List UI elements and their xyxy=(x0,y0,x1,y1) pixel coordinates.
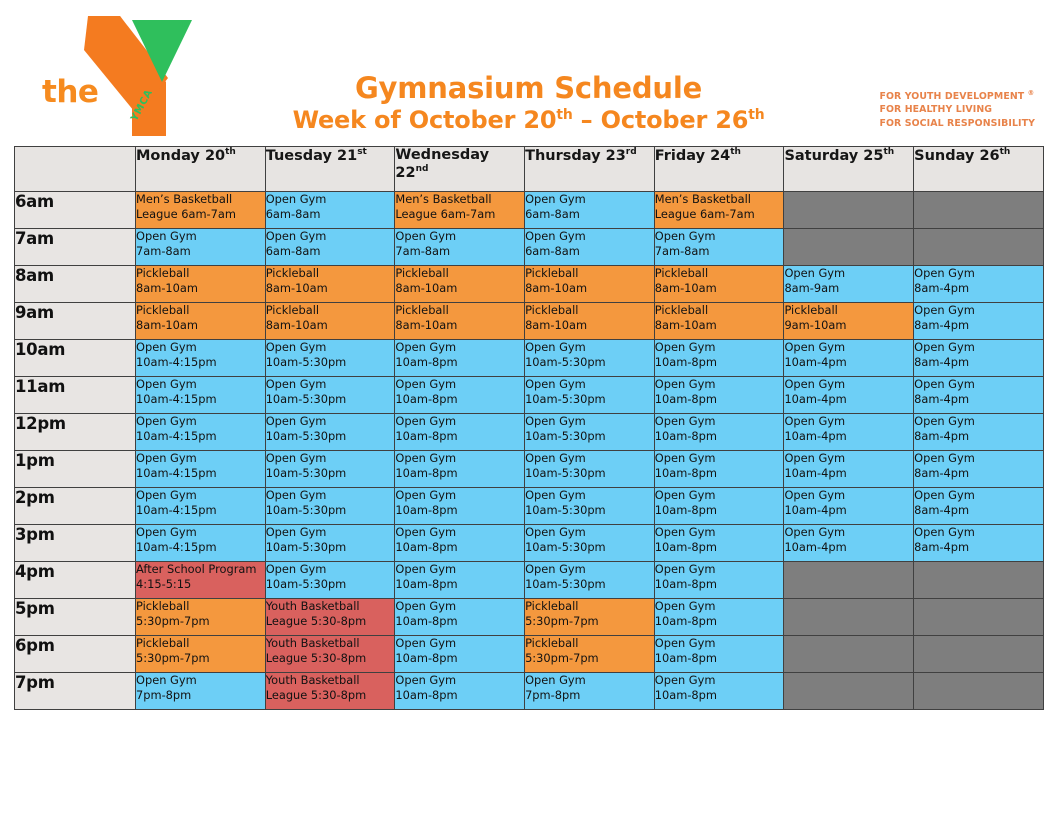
column-header-sunday: Sunday 26th xyxy=(914,147,1044,192)
schedule-cell[interactable]: After School Program4:15-5:15 xyxy=(136,562,266,599)
column-header-day: Sunday xyxy=(914,148,974,164)
cell-activity: Open Gym xyxy=(266,229,395,244)
cell-activity: After School Program xyxy=(136,562,265,577)
cell-activity: Pickleball xyxy=(784,303,913,318)
cell-time: 10am-8pm xyxy=(395,651,524,666)
tagline-registered-icon: ® xyxy=(1028,89,1035,97)
cell-time: 6am-8am xyxy=(525,244,654,259)
cell-time: 10am-5:30pm xyxy=(266,540,395,555)
column-header-date: 24 xyxy=(705,148,730,164)
cell-activity: Open Gym xyxy=(266,414,395,429)
column-header-thursday: Thursday 23rd xyxy=(525,147,655,192)
table-body: 6amMen’s BasketballLeague 6am-7amOpen Gy… xyxy=(15,192,1044,710)
cell-activity: Men’s Basketball xyxy=(395,192,524,207)
column-header-date: 20 xyxy=(200,148,225,164)
cell-activity: Open Gym xyxy=(784,266,913,281)
schedule-cell-empty[interactable] xyxy=(784,229,914,266)
schedule-cell[interactable]: Open Gym10am-8pm xyxy=(654,451,784,488)
schedule-cell[interactable]: Open Gym10am-5:30pm xyxy=(525,562,655,599)
cell-time: 10am-5:30pm xyxy=(266,577,395,592)
tagline-line-3: FOR SOCIAL RESPONSIBILITY xyxy=(879,117,1035,130)
row-time-label: 4pm xyxy=(15,562,136,599)
schedule-cell[interactable]: Open Gym10am-8pm xyxy=(654,414,784,451)
schedule-cell[interactable]: Open Gym6am-8am xyxy=(525,192,655,229)
schedule-cell[interactable]: Youth BasketballLeague 5:30-8pm xyxy=(265,673,395,710)
schedule-cell[interactable]: Open Gym10am-8pm xyxy=(395,525,525,562)
schedule-cell[interactable]: Open Gym10am-4:15pm xyxy=(136,525,266,562)
schedule-cell[interactable]: Open Gym10am-4:15pm xyxy=(136,414,266,451)
schedule-cell[interactable]: Open Gym10am-8pm xyxy=(395,340,525,377)
cell-activity: Open Gym xyxy=(136,673,265,688)
cell-time: 10am-8pm xyxy=(655,577,784,592)
cell-time: 5:30pm-7pm xyxy=(525,614,654,629)
subtitle-ordinal-end: th xyxy=(748,107,764,123)
cell-time: 10am-4pm xyxy=(784,355,913,370)
schedule-cell-empty[interactable] xyxy=(914,562,1044,599)
cell-time: 6am-8am xyxy=(266,207,395,222)
cell-time: 10am-4:15pm xyxy=(136,466,265,481)
schedule-cell[interactable]: Pickleball8am-10am xyxy=(654,266,784,303)
schedule-cell-empty[interactable] xyxy=(784,192,914,229)
column-header-ordinal: nd xyxy=(416,164,429,174)
schedule-cell[interactable]: Open Gym10am-8pm xyxy=(395,451,525,488)
table-row: 2pmOpen Gym10am-4:15pmOpen Gym10am-5:30p… xyxy=(15,488,1044,525)
schedule-cell[interactable]: Open Gym10am-5:30pm xyxy=(265,488,395,525)
cell-time: 8am-4pm xyxy=(914,503,1043,518)
schedule-cell[interactable]: Men’s BasketballLeague 6am-7am xyxy=(136,192,266,229)
cell-time: 10am-8pm xyxy=(655,540,784,555)
cell-activity: Open Gym xyxy=(655,414,784,429)
schedule-cell-empty[interactable] xyxy=(914,599,1044,636)
cell-activity: Open Gym xyxy=(266,192,395,207)
schedule-cell[interactable]: Open Gym7am-8am xyxy=(395,229,525,266)
schedule-cell[interactable]: Open Gym10am-4:15pm xyxy=(136,451,266,488)
schedule-cell[interactable]: Open Gym10am-8pm xyxy=(395,562,525,599)
row-time-label: 7pm xyxy=(15,673,136,710)
cell-time: 10am-8pm xyxy=(395,429,524,444)
cell-activity: Pickleball xyxy=(525,303,654,318)
schedule-table-wrapper: Monday 20thTuesday 21stWednesday 22ndThu… xyxy=(14,146,1043,710)
row-time-label: 9am xyxy=(15,303,136,340)
cell-activity: Pickleball xyxy=(655,303,784,318)
table-row: 6amMen’s BasketballLeague 6am-7amOpen Gy… xyxy=(15,192,1044,229)
cell-time: 9am-10am xyxy=(784,318,913,333)
schedule-cell[interactable]: Open Gym7am-8am xyxy=(654,229,784,266)
schedule-cell[interactable]: Open Gym10am-5:30pm xyxy=(265,451,395,488)
table-row: 5pmPickleball5:30pm-7pmYouth BasketballL… xyxy=(15,599,1044,636)
schedule-cell[interactable]: Pickleball8am-10am xyxy=(395,303,525,340)
cell-time: 8am-10am xyxy=(136,281,265,296)
table-row: 8amPickleball8am-10amPickleball8am-10amP… xyxy=(15,266,1044,303)
cell-activity: Open Gym xyxy=(914,340,1043,355)
cell-time: 10am-8pm xyxy=(395,688,524,703)
cell-activity: Open Gym xyxy=(784,488,913,503)
cell-activity: Pickleball xyxy=(136,266,265,281)
cell-activity: Open Gym xyxy=(136,377,265,392)
page-header: the ® YMCA Gymnasium Schedule Week of Oc… xyxy=(0,0,1057,145)
schedule-cell-empty[interactable] xyxy=(784,673,914,710)
cell-activity: Open Gym xyxy=(914,451,1043,466)
schedule-cell-empty[interactable] xyxy=(914,673,1044,710)
table-row: 9amPickleball8am-10amPickleball8am-10amP… xyxy=(15,303,1044,340)
schedule-cell[interactable]: Pickleball9am-10am xyxy=(784,303,914,340)
cell-time: League 5:30-8pm xyxy=(266,614,395,629)
cell-activity: Open Gym xyxy=(266,340,395,355)
cell-time: 10am-8pm xyxy=(395,614,524,629)
cell-time: 7pm-8pm xyxy=(136,688,265,703)
cell-time: 10am-5:30pm xyxy=(266,392,395,407)
cell-activity: Open Gym xyxy=(395,340,524,355)
row-time-label: 8am xyxy=(15,266,136,303)
row-time-label: 5pm xyxy=(15,599,136,636)
cell-activity: Open Gym xyxy=(525,340,654,355)
column-header-day: Tuesday xyxy=(266,148,332,164)
schedule-cell[interactable]: Pickleball8am-10am xyxy=(525,266,655,303)
cell-time: 10am-8pm xyxy=(395,392,524,407)
cell-activity: Open Gym xyxy=(266,488,395,503)
schedule-cell[interactable]: Open Gym10am-5:30pm xyxy=(525,488,655,525)
cell-time: 8am-4pm xyxy=(914,429,1043,444)
cell-activity: Pickleball xyxy=(395,266,524,281)
column-header-day: Thursday xyxy=(525,148,601,164)
schedule-cell[interactable]: Open Gym10am-4:15pm xyxy=(136,377,266,414)
schedule-cell[interactable]: Open Gym10am-8pm xyxy=(654,525,784,562)
schedule-cell[interactable]: Youth BasketballLeague 5:30-8pm xyxy=(265,636,395,673)
schedule-cell[interactable]: Open Gym10am-4pm xyxy=(784,340,914,377)
cell-time: 5:30pm-7pm xyxy=(525,651,654,666)
cell-activity: Open Gym xyxy=(525,562,654,577)
cell-time: 10am-8pm xyxy=(395,503,524,518)
schedule-cell[interactable]: Open Gym10am-4:15pm xyxy=(136,488,266,525)
cell-time: 10am-5:30pm xyxy=(266,503,395,518)
cell-time: 10am-4pm xyxy=(784,466,913,481)
cell-activity: Youth Basketball xyxy=(266,636,395,651)
cell-activity: Open Gym xyxy=(655,636,784,651)
schedule-cell[interactable]: Open Gym6am-8am xyxy=(265,192,395,229)
cell-activity: Men’s Basketball xyxy=(655,192,784,207)
schedule-cell[interactable]: Open Gym7am-8am xyxy=(136,229,266,266)
cell-time: 10am-8pm xyxy=(655,392,784,407)
cell-time: 8am-9am xyxy=(784,281,913,296)
cell-activity: Open Gym xyxy=(395,488,524,503)
cell-activity: Open Gym xyxy=(655,340,784,355)
row-time-label: 12pm xyxy=(15,414,136,451)
schedule-cell[interactable]: Pickleball5:30pm-7pm xyxy=(525,599,655,636)
schedule-cell[interactable]: Open Gym10am-8pm xyxy=(395,377,525,414)
cell-time: 10am-4pm xyxy=(784,429,913,444)
cell-activity: Open Gym xyxy=(784,340,913,355)
schedule-cell[interactable]: Pickleball5:30pm-7pm xyxy=(525,636,655,673)
column-header-date: 22 xyxy=(395,165,415,181)
cell-time: 10am-4:15pm xyxy=(136,392,265,407)
cell-activity: Open Gym xyxy=(525,377,654,392)
cell-activity: Open Gym xyxy=(136,229,265,244)
ymca-tagline: FOR YOUTH DEVELOPMENT ® FOR HEALTHY LIVI… xyxy=(879,89,1035,130)
schedule-cell[interactable]: Open Gym10am-4pm xyxy=(784,488,914,525)
cell-time: 8am-10am xyxy=(655,281,784,296)
cell-time: 10am-8pm xyxy=(655,688,784,703)
cell-activity: Open Gym xyxy=(136,414,265,429)
column-header-date: 23 xyxy=(601,148,626,164)
schedule-cell-empty[interactable] xyxy=(914,192,1044,229)
cell-time: 4:15-5:15 xyxy=(136,577,265,592)
schedule-cell[interactable]: Open Gym7pm-8pm xyxy=(136,673,266,710)
cell-time: League 5:30-8pm xyxy=(266,688,395,703)
cell-activity: Open Gym xyxy=(525,488,654,503)
ymca-logo: the ® YMCA xyxy=(38,8,198,138)
cell-activity: Pickleball xyxy=(525,599,654,614)
schedule-cell[interactable]: Open Gym10am-8pm xyxy=(654,673,784,710)
cell-time: League 6am-7am xyxy=(395,207,524,222)
schedule-cell[interactable]: Pickleball8am-10am xyxy=(654,303,784,340)
cell-time: 8am-4pm xyxy=(914,540,1043,555)
schedule-cell[interactable]: Men’s BasketballLeague 6am-7am xyxy=(654,192,784,229)
schedule-cell[interactable]: Open Gym8am-4pm xyxy=(914,266,1044,303)
schedule-cell[interactable]: Open Gym10am-8pm xyxy=(654,562,784,599)
cell-time: 10am-8pm xyxy=(655,651,784,666)
cell-time: 10am-5:30pm xyxy=(525,429,654,444)
cell-time: 10am-8pm xyxy=(655,429,784,444)
schedule-cell[interactable]: Open Gym8am-9am xyxy=(784,266,914,303)
cell-activity: Open Gym xyxy=(525,451,654,466)
cell-time: League 6am-7am xyxy=(655,207,784,222)
column-header-tuesday: Tuesday 21st xyxy=(265,147,395,192)
cell-time: 10am-5:30pm xyxy=(525,466,654,481)
cell-time: League 5:30-8pm xyxy=(266,651,395,666)
row-time-label: 6am xyxy=(15,192,136,229)
schedule-cell[interactable]: Open Gym10am-5:30pm xyxy=(525,340,655,377)
cell-time: 10am-8pm xyxy=(395,355,524,370)
schedule-cell[interactable]: Open Gym10am-8pm xyxy=(654,340,784,377)
cell-activity: Open Gym xyxy=(525,229,654,244)
cell-time: 7am-8am xyxy=(395,244,524,259)
gymnasium-schedule-table: Monday 20thTuesday 21stWednesday 22ndThu… xyxy=(14,146,1044,710)
row-time-label: 6pm xyxy=(15,636,136,673)
schedule-cell[interactable]: Open Gym10am-5:30pm xyxy=(525,451,655,488)
cell-activity: Open Gym xyxy=(395,636,524,651)
cell-activity: Pickleball xyxy=(266,266,395,281)
column-header-ordinal: th xyxy=(883,147,894,157)
cell-time: 10am-8pm xyxy=(655,355,784,370)
cell-activity: Open Gym xyxy=(784,377,913,392)
schedule-cell[interactable]: Open Gym10am-5:30pm xyxy=(525,414,655,451)
schedule-cell[interactable]: Open Gym10am-5:30pm xyxy=(525,525,655,562)
schedule-cell-empty[interactable] xyxy=(784,599,914,636)
cell-activity: Open Gym xyxy=(525,192,654,207)
schedule-cell[interactable]: Pickleball5:30pm-7pm xyxy=(136,636,266,673)
cell-activity: Open Gym xyxy=(136,525,265,540)
tagline-line-2: FOR HEALTHY LIVING xyxy=(879,103,1035,116)
cell-activity: Open Gym xyxy=(784,525,913,540)
cell-activity: Open Gym xyxy=(395,229,524,244)
schedule-cell[interactable]: Open Gym8am-4pm xyxy=(914,525,1044,562)
cell-time: 10am-4pm xyxy=(784,392,913,407)
cell-activity: Open Gym xyxy=(136,340,265,355)
schedule-cell[interactable]: Open Gym10am-8pm xyxy=(395,599,525,636)
cell-time: 7pm-8pm xyxy=(525,688,654,703)
row-time-label: 7am xyxy=(15,229,136,266)
schedule-cell[interactable]: Pickleball8am-10am xyxy=(136,303,266,340)
schedule-cell[interactable]: Open Gym8am-4pm xyxy=(914,451,1044,488)
cell-activity: Open Gym xyxy=(395,414,524,429)
cell-time: 10am-4pm xyxy=(784,540,913,555)
schedule-cell[interactable]: Open Gym10am-5:30pm xyxy=(525,377,655,414)
schedule-cell[interactable]: Pickleball8am-10am xyxy=(136,266,266,303)
cell-activity: Open Gym xyxy=(266,377,395,392)
cell-activity: Pickleball xyxy=(525,266,654,281)
column-header-day: Wednesday xyxy=(395,147,489,163)
schedule-cell[interactable]: Open Gym10am-8pm xyxy=(395,488,525,525)
table-corner-cell xyxy=(15,147,136,192)
cell-activity: Open Gym xyxy=(395,451,524,466)
row-time-label: 3pm xyxy=(15,525,136,562)
cell-time: 10am-5:30pm xyxy=(525,540,654,555)
row-time-label: 1pm xyxy=(15,451,136,488)
schedule-cell-empty[interactable] xyxy=(914,636,1044,673)
cell-time: 8am-4pm xyxy=(914,318,1043,333)
column-header-day: Monday xyxy=(136,148,200,164)
schedule-cell[interactable]: Open Gym10am-8pm xyxy=(395,414,525,451)
cell-activity: Open Gym xyxy=(395,599,524,614)
cell-time: 10am-4:15pm xyxy=(136,355,265,370)
subtitle-middle: – October 26 xyxy=(573,106,749,134)
schedule-cell[interactable]: Open Gym10am-5:30pm xyxy=(265,525,395,562)
subtitle-prefix: Week of October 20 xyxy=(293,106,557,134)
table-row: 7amOpen Gym7am-8amOpen Gym6am-8amOpen Gy… xyxy=(15,229,1044,266)
cell-time: 8am-4pm xyxy=(914,355,1043,370)
table-row: 11amOpen Gym10am-4:15pmOpen Gym10am-5:30… xyxy=(15,377,1044,414)
column-header-ordinal: st xyxy=(357,147,367,157)
cell-time: 10am-8pm xyxy=(655,614,784,629)
cell-activity: Open Gym xyxy=(914,525,1043,540)
column-header-monday: Monday 20th xyxy=(136,147,266,192)
cell-time: 8am-10am xyxy=(655,318,784,333)
schedule-cell[interactable]: Open Gym10am-5:30pm xyxy=(265,340,395,377)
schedule-cell[interactable]: Open Gym10am-4pm xyxy=(784,525,914,562)
schedule-cell[interactable]: Open Gym6am-8am xyxy=(525,229,655,266)
schedule-cell[interactable]: Open Gym10am-4pm xyxy=(784,414,914,451)
schedule-cell[interactable]: Men’s BasketballLeague 6am-7am xyxy=(395,192,525,229)
cell-time: 10am-4:15pm xyxy=(136,503,265,518)
schedule-cell[interactable]: Open Gym10am-8pm xyxy=(654,488,784,525)
cell-time: 5:30pm-7pm xyxy=(136,651,265,666)
cell-time: 10am-5:30pm xyxy=(525,355,654,370)
schedule-cell[interactable]: Open Gym8am-4pm xyxy=(914,340,1044,377)
table-head: Monday 20thTuesday 21stWednesday 22ndThu… xyxy=(15,147,1044,192)
registered-trademark-icon: ® xyxy=(179,20,188,30)
table-row: 10amOpen Gym10am-4:15pmOpen Gym10am-5:30… xyxy=(15,340,1044,377)
cell-time: 10am-5:30pm xyxy=(266,429,395,444)
cell-time: 6am-8am xyxy=(525,207,654,222)
cell-time: 10am-8pm xyxy=(655,466,784,481)
cell-time: 10am-4pm xyxy=(784,503,913,518)
cell-time: 8am-10am xyxy=(525,281,654,296)
cell-activity: Pickleball xyxy=(136,599,265,614)
column-header-ordinal: th xyxy=(1000,147,1011,157)
subtitle-ordinal-start: th xyxy=(556,107,572,123)
cell-time: 7am-8am xyxy=(136,244,265,259)
column-header-ordinal: rd xyxy=(626,147,637,157)
cell-time: 5:30pm-7pm xyxy=(136,614,265,629)
cell-activity: Open Gym xyxy=(914,266,1043,281)
cell-activity: Open Gym xyxy=(525,525,654,540)
schedule-cell[interactable]: Youth BasketballLeague 5:30-8pm xyxy=(265,599,395,636)
table-row: 12pmOpen Gym10am-4:15pmOpen Gym10am-5:30… xyxy=(15,414,1044,451)
cell-activity: Open Gym xyxy=(655,488,784,503)
cell-activity: Pickleball xyxy=(136,636,265,651)
cell-time: 8am-10am xyxy=(395,281,524,296)
cell-activity: Open Gym xyxy=(655,525,784,540)
schedule-cell[interactable]: Pickleball8am-10am xyxy=(265,266,395,303)
row-time-label: 11am xyxy=(15,377,136,414)
cell-activity: Open Gym xyxy=(655,377,784,392)
cell-activity: Open Gym xyxy=(914,303,1043,318)
schedule-cell[interactable]: Open Gym8am-4pm xyxy=(914,488,1044,525)
cell-time: 8am-10am xyxy=(525,318,654,333)
cell-activity: Open Gym xyxy=(266,525,395,540)
table-row: 4pmAfter School Program4:15-5:15Open Gym… xyxy=(15,562,1044,599)
schedule-cell[interactable]: Open Gym10am-4pm xyxy=(784,377,914,414)
schedule-cell-empty[interactable] xyxy=(784,636,914,673)
cell-activity: Open Gym xyxy=(395,377,524,392)
schedule-cell[interactable]: Open Gym8am-4pm xyxy=(914,303,1044,340)
cell-time: League 6am-7am xyxy=(136,207,265,222)
schedule-cell[interactable]: Open Gym10am-8pm xyxy=(395,673,525,710)
schedule-cell[interactable]: Open Gym10am-4:15pm xyxy=(136,340,266,377)
schedule-cell[interactable]: Open Gym10am-5:30pm xyxy=(265,414,395,451)
schedule-cell[interactable]: Open Gym10am-8pm xyxy=(395,636,525,673)
row-time-label: 2pm xyxy=(15,488,136,525)
schedule-cell-empty[interactable] xyxy=(914,229,1044,266)
schedule-cell[interactable]: Open Gym8am-4pm xyxy=(914,377,1044,414)
cell-activity: Open Gym xyxy=(395,562,524,577)
schedule-cell-empty[interactable] xyxy=(784,562,914,599)
cell-activity: Open Gym xyxy=(655,562,784,577)
cell-activity: Open Gym xyxy=(655,451,784,466)
row-time-label: 10am xyxy=(15,340,136,377)
schedule-cell[interactable]: Pickleball5:30pm-7pm xyxy=(136,599,266,636)
cell-time: 8am-10am xyxy=(266,318,395,333)
cell-activity: Pickleball xyxy=(266,303,395,318)
schedule-cell[interactable]: Open Gym10am-8pm xyxy=(654,636,784,673)
cell-time: 8am-4pm xyxy=(914,392,1043,407)
cell-activity: Open Gym xyxy=(655,229,784,244)
schedule-cell[interactable]: Open Gym6am-8am xyxy=(265,229,395,266)
schedule-cell[interactable]: Open Gym10am-8pm xyxy=(654,599,784,636)
schedule-cell[interactable]: Open Gym7pm-8pm xyxy=(525,673,655,710)
cell-time: 10am-5:30pm xyxy=(266,355,395,370)
schedule-page: the ® YMCA Gymnasium Schedule Week of Oc… xyxy=(0,0,1057,817)
schedule-cell[interactable]: Pickleball8am-10am xyxy=(525,303,655,340)
schedule-cell[interactable]: Open Gym10am-5:30pm xyxy=(265,562,395,599)
schedule-cell[interactable]: Pickleball8am-10am xyxy=(265,303,395,340)
schedule-cell[interactable]: Open Gym10am-5:30pm xyxy=(265,377,395,414)
cell-activity: Open Gym xyxy=(136,451,265,466)
schedule-cell[interactable]: Pickleball8am-10am xyxy=(395,266,525,303)
column-header-date: 25 xyxy=(858,148,883,164)
cell-time: 7am-8am xyxy=(655,244,784,259)
cell-time: 10am-5:30pm xyxy=(525,392,654,407)
cell-activity: Pickleball xyxy=(655,266,784,281)
column-header-day: Friday xyxy=(655,148,705,164)
column-header-date: 26 xyxy=(974,148,999,164)
cell-time: 10am-8pm xyxy=(655,503,784,518)
schedule-cell[interactable]: Open Gym10am-8pm xyxy=(654,377,784,414)
schedule-cell[interactable]: Open Gym8am-4pm xyxy=(914,414,1044,451)
cell-activity: Pickleball xyxy=(395,303,524,318)
table-row: 6pmPickleball5:30pm-7pmYouth BasketballL… xyxy=(15,636,1044,673)
schedule-cell[interactable]: Open Gym10am-4pm xyxy=(784,451,914,488)
